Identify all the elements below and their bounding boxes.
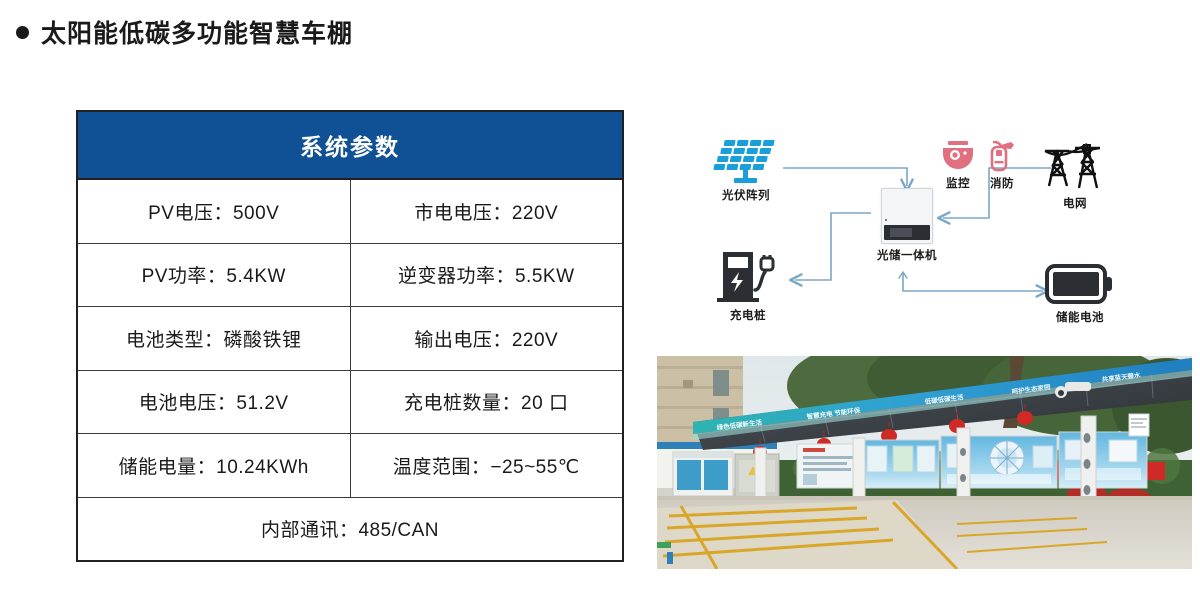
system-parameters-table: 系统参数 PV电压：500V 市电电压：220V PV功率：5.4KW 逆变器功… bbox=[76, 110, 624, 562]
fire-extinguisher-icon bbox=[984, 140, 1020, 172]
table-cell-output-voltage: 输出电压：220V bbox=[351, 307, 623, 370]
table-cell-storage-capacity: 储能电量：10.24KWh bbox=[78, 434, 351, 497]
surveillance-camera-icon bbox=[940, 140, 976, 172]
diagram-node-fire-protection: 消防 bbox=[984, 140, 1020, 191]
table-header: 系统参数 bbox=[78, 112, 622, 180]
table-row: PV电压：500V 市电电压：220V bbox=[78, 180, 622, 244]
table-cell-pv-power: PV功率：5.4KW bbox=[78, 244, 351, 307]
table-cell-grid-voltage: 市电电压：220V bbox=[351, 180, 623, 243]
table-cell-temp-range: 温度范围：−25~55℃ bbox=[351, 434, 623, 497]
table-cell-pv-voltage: PV电压：500V bbox=[78, 180, 351, 243]
flow-inverter-to-battery bbox=[903, 273, 1043, 291]
inverter-indicator-icon bbox=[885, 219, 887, 221]
solar-panel-icon bbox=[713, 138, 779, 184]
table-row: 电池电压：51.2V 充电桩数量：20 口 bbox=[78, 371, 622, 435]
diagram-label-hybrid-inverter: 光储一体机 bbox=[877, 247, 937, 263]
diagram-label-storage-battery: 储能电池 bbox=[1056, 309, 1104, 325]
solar-carport-photo: 运 离 邪 绿色低碳新生活 智慧充 bbox=[657, 356, 1192, 569]
page-title-text: 太阳能低碳多功能智慧车棚 bbox=[41, 14, 353, 50]
table-cell-battery-voltage: 电池电压：51.2V bbox=[78, 371, 351, 434]
inverter-cabinet-icon bbox=[881, 188, 933, 244]
diagram-label-charging-pile: 充电桩 bbox=[730, 307, 766, 323]
diagram-label-pv-array: 光伏阵列 bbox=[722, 187, 770, 203]
diagram-label-power-grid: 电网 bbox=[1063, 195, 1087, 211]
diagram-node-power-grid: 电网 bbox=[1043, 140, 1107, 211]
page-title: 太阳能低碳多功能智慧车棚 bbox=[16, 14, 353, 50]
inverter-display-icon bbox=[890, 228, 912, 237]
transmission-tower-icon bbox=[1043, 140, 1107, 192]
diagram-label-monitoring: 监控 bbox=[946, 175, 970, 191]
diagram-node-charging-pile: 充电桩 bbox=[717, 250, 779, 323]
diagram-node-storage-battery: 储能电池 bbox=[1045, 262, 1115, 325]
diagram-label-fire-protection: 消防 bbox=[990, 175, 1014, 191]
ev-charging-pile-icon bbox=[717, 250, 779, 304]
table-cell-internal-comm: 内部通讯：485/CAN bbox=[78, 498, 622, 561]
table-cell-charger-count: 充电桩数量：20 口 bbox=[351, 371, 623, 434]
battery-icon bbox=[1045, 262, 1115, 306]
solar-carport-photo-content: 运 离 邪 绿色低碳新生活 智慧充 bbox=[657, 356, 1192, 569]
filled-circle-bullet-icon bbox=[16, 26, 29, 39]
flow-pv-to-inverter bbox=[783, 168, 907, 186]
table-cell-battery-type: 电池类型：磷酸铁锂 bbox=[78, 307, 351, 370]
table-row: 储能电量：10.24KWh 温度范围：−25~55℃ bbox=[78, 434, 622, 498]
table-row: 内部通讯：485/CAN bbox=[78, 498, 622, 561]
diagram-node-hybrid-inverter: 光储一体机 bbox=[877, 188, 937, 263]
table-cell-inverter-power: 逆变器功率：5.5KW bbox=[351, 244, 623, 307]
diagram-node-pv-array: 光伏阵列 bbox=[713, 138, 779, 203]
slide-page: 太阳能低碳多功能智慧车棚 系统参数 PV电压：500V 市电电压：220V PV… bbox=[0, 0, 1200, 605]
diagram-node-monitoring: 监控 bbox=[940, 140, 976, 191]
table-row: PV功率：5.4KW 逆变器功率：5.5KW bbox=[78, 244, 622, 308]
system-flow-diagram: 光伏阵列 监控 bbox=[655, 100, 1195, 350]
table-row: 电池类型：磷酸铁锂 输出电压：220V bbox=[78, 307, 622, 371]
flow-inverter-to-charger bbox=[795, 213, 871, 280]
diagram-node-safety-group: 监控 消防 bbox=[940, 140, 1020, 191]
